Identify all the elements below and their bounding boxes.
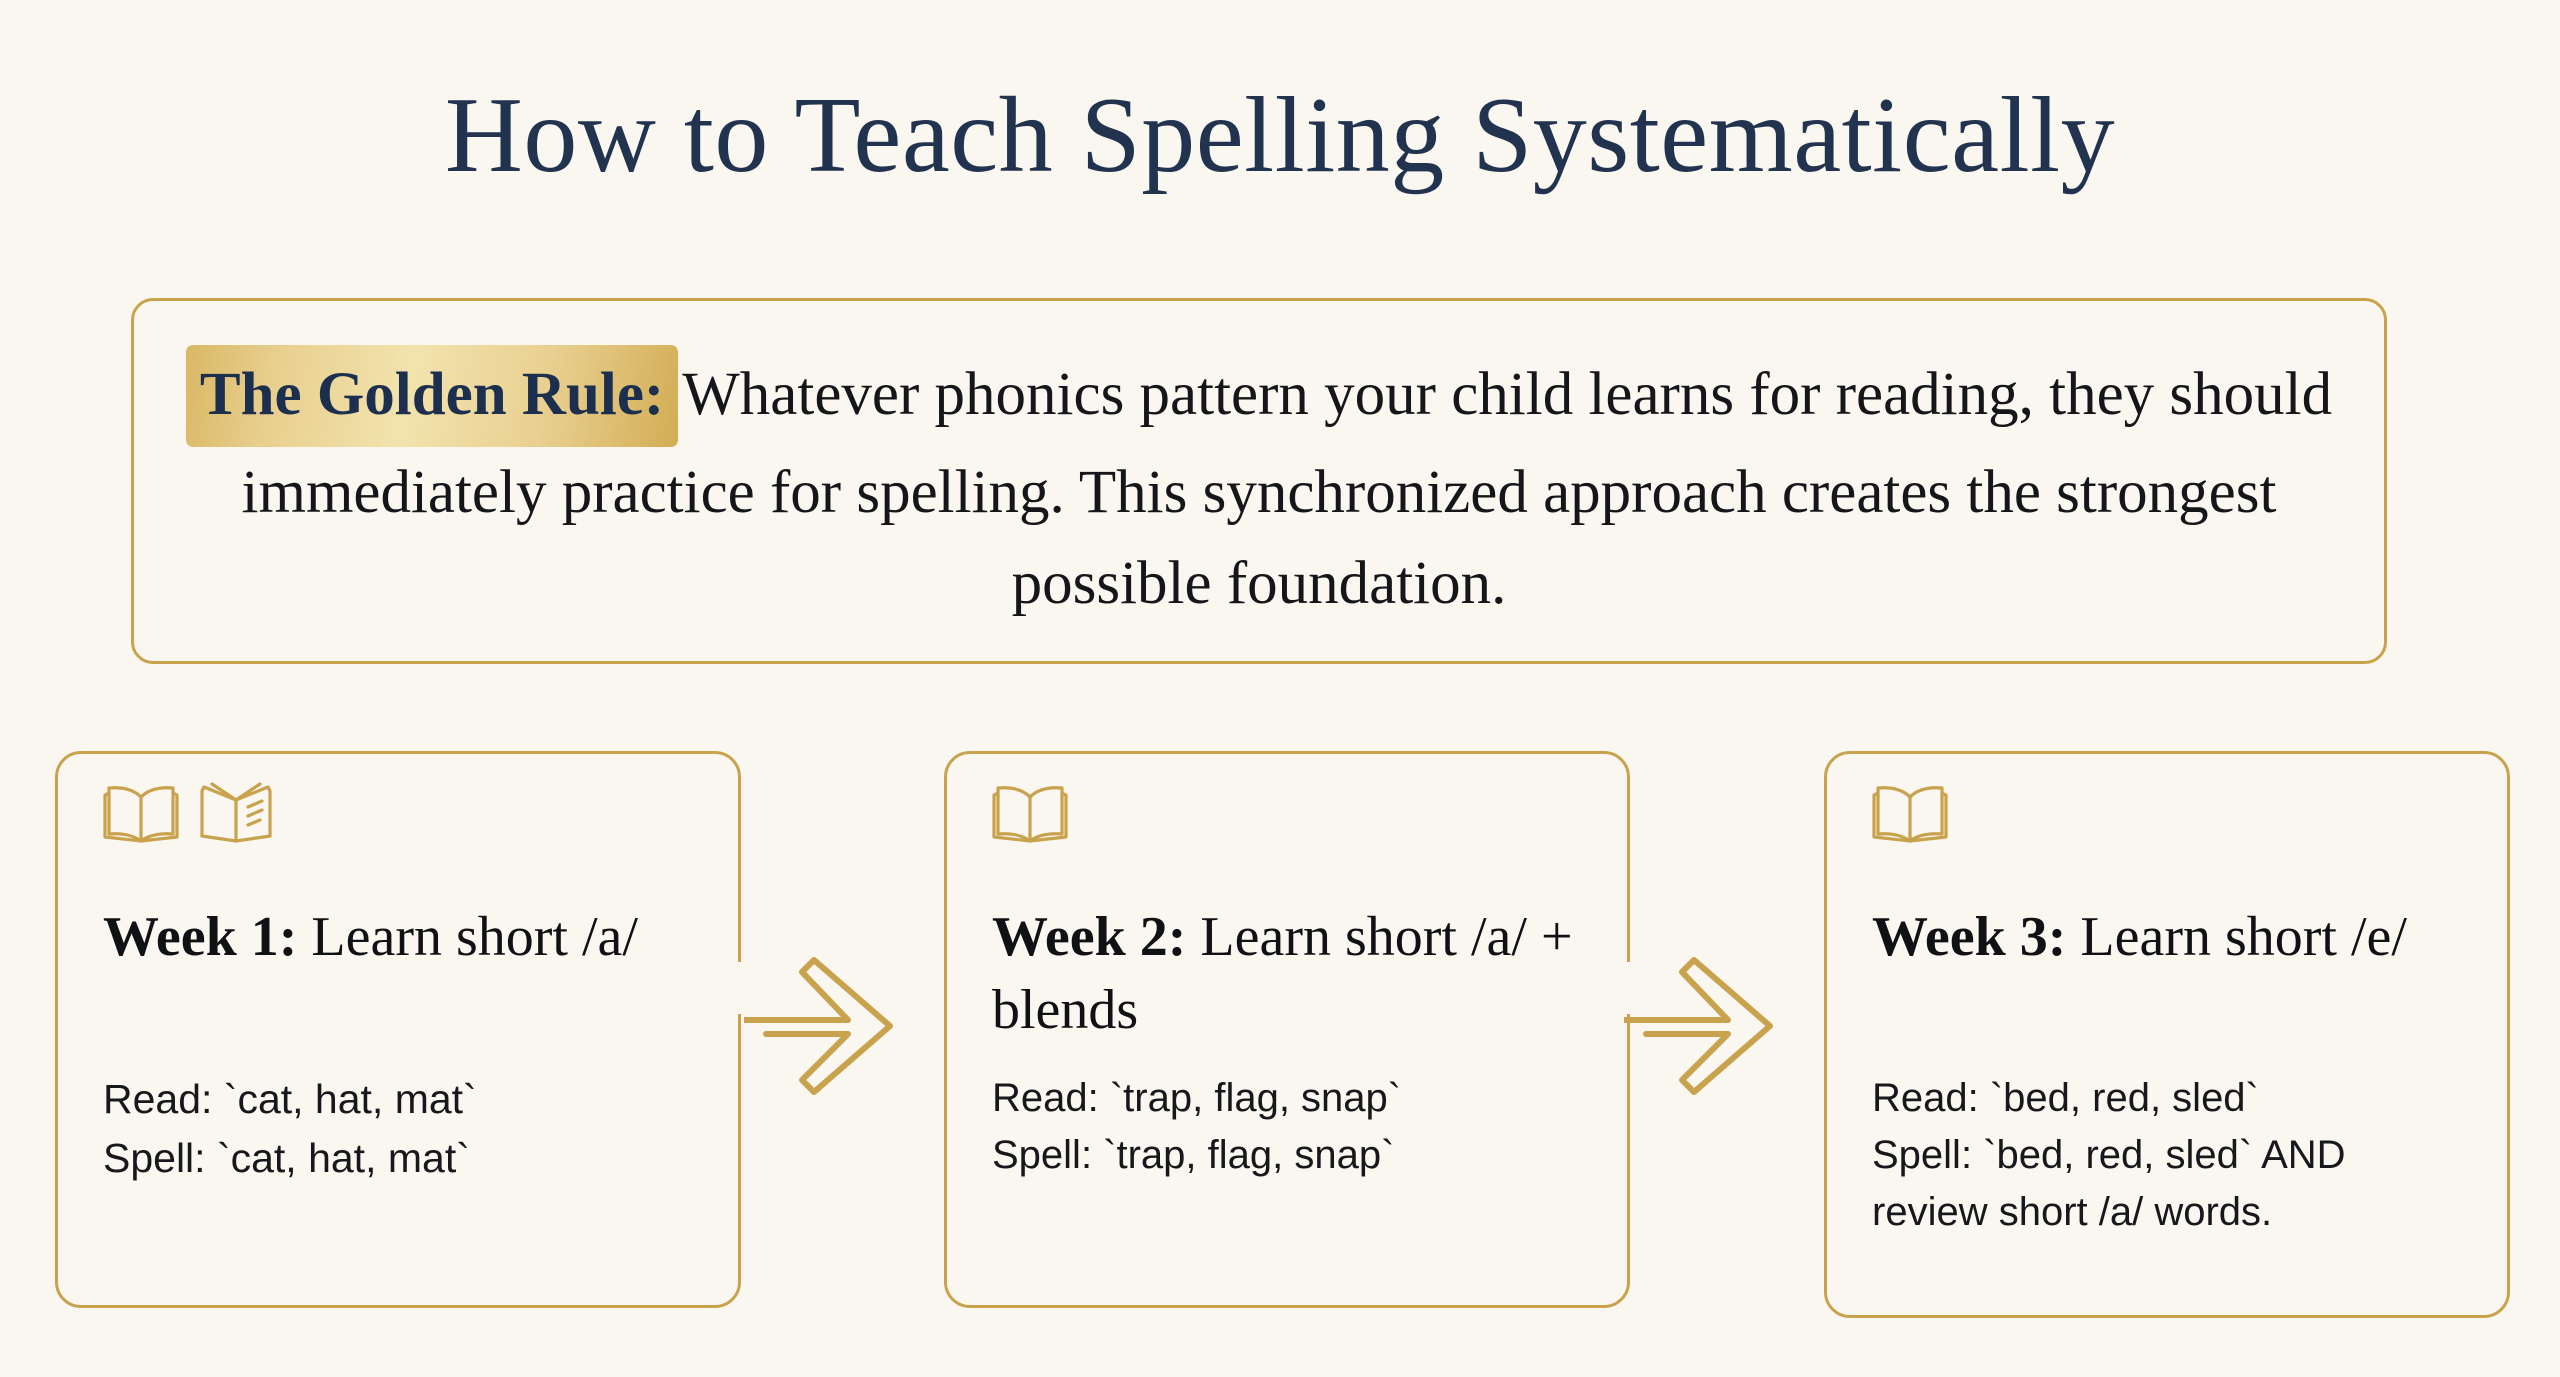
card-3-read-line: Read: `bed, red, sled` [1872,1070,2472,1127]
card-3-icon-row [1872,782,1948,849]
open-book-with-text-icon [198,782,274,849]
page-title: How to Teach Spelling Systematically [0,78,2560,195]
card-3-details: Read: `bed, red, sled` Spell: `bed, red,… [1872,1070,2472,1242]
card-3-heading-rest: Learn short /e/ [2066,906,2407,968]
card-2-icon-row [992,782,1068,849]
infographic-page: How to Teach Spelling Systematically The… [0,0,2560,1377]
card-2-details: Read: `trap, flag, snap` Spell: `trap, f… [992,1070,1592,1184]
card-3-heading: Week 3: Learn short /e/ [1872,901,2462,974]
card-1-details: Read: `cat, hat, mat` Spell: `cat, hat, … [103,1070,703,1187]
card-1-week-label: Week 1: [103,906,297,968]
arrow-week1-to-week2 [744,946,944,1106]
card-2-heading: Week 2: Learn short /a/ + blends [992,901,1582,1047]
card-1-spell-line: Spell: `cat, hat, mat` [103,1129,703,1188]
open-book-icon [103,782,179,849]
open-book-icon [992,782,1068,849]
arrow-week2-to-week3 [1624,946,1824,1106]
week-card-3: Week 3: Learn short /e/ Read: `bed, red,… [1824,751,2510,1318]
card-1-heading: Week 1: Learn short /a/ [103,901,693,974]
card-3-spell-line: Spell: `bed, red, sled` AND review short… [1872,1127,2472,1241]
card-2-week-label: Week 2: [992,906,1186,968]
card-1-border-gap [734,962,743,1014]
golden-rule-label: The Golden Rule: [186,345,678,447]
card-3-week-label: Week 3: [1872,906,2066,968]
week-card-2: Week 2: Learn short /a/ + blends Read: `… [944,751,1630,1308]
open-book-icon [1872,782,1948,849]
card-1-read-line: Read: `cat, hat, mat` [103,1070,703,1129]
card-1-heading-rest: Learn short /a/ [297,906,638,968]
card-2-spell-line: Spell: `trap, flag, snap` [992,1127,1592,1184]
card-1-icon-row [103,782,274,849]
golden-rule-box: The Golden Rule:Whatever phonics pattern… [131,298,2387,664]
card-2-read-line: Read: `trap, flag, snap` [992,1070,1592,1127]
golden-rule-text: The Golden Rule:Whatever phonics pattern… [134,345,2384,630]
week-card-1: Week 1: Learn short /a/ Read: `cat, hat,… [55,751,741,1308]
